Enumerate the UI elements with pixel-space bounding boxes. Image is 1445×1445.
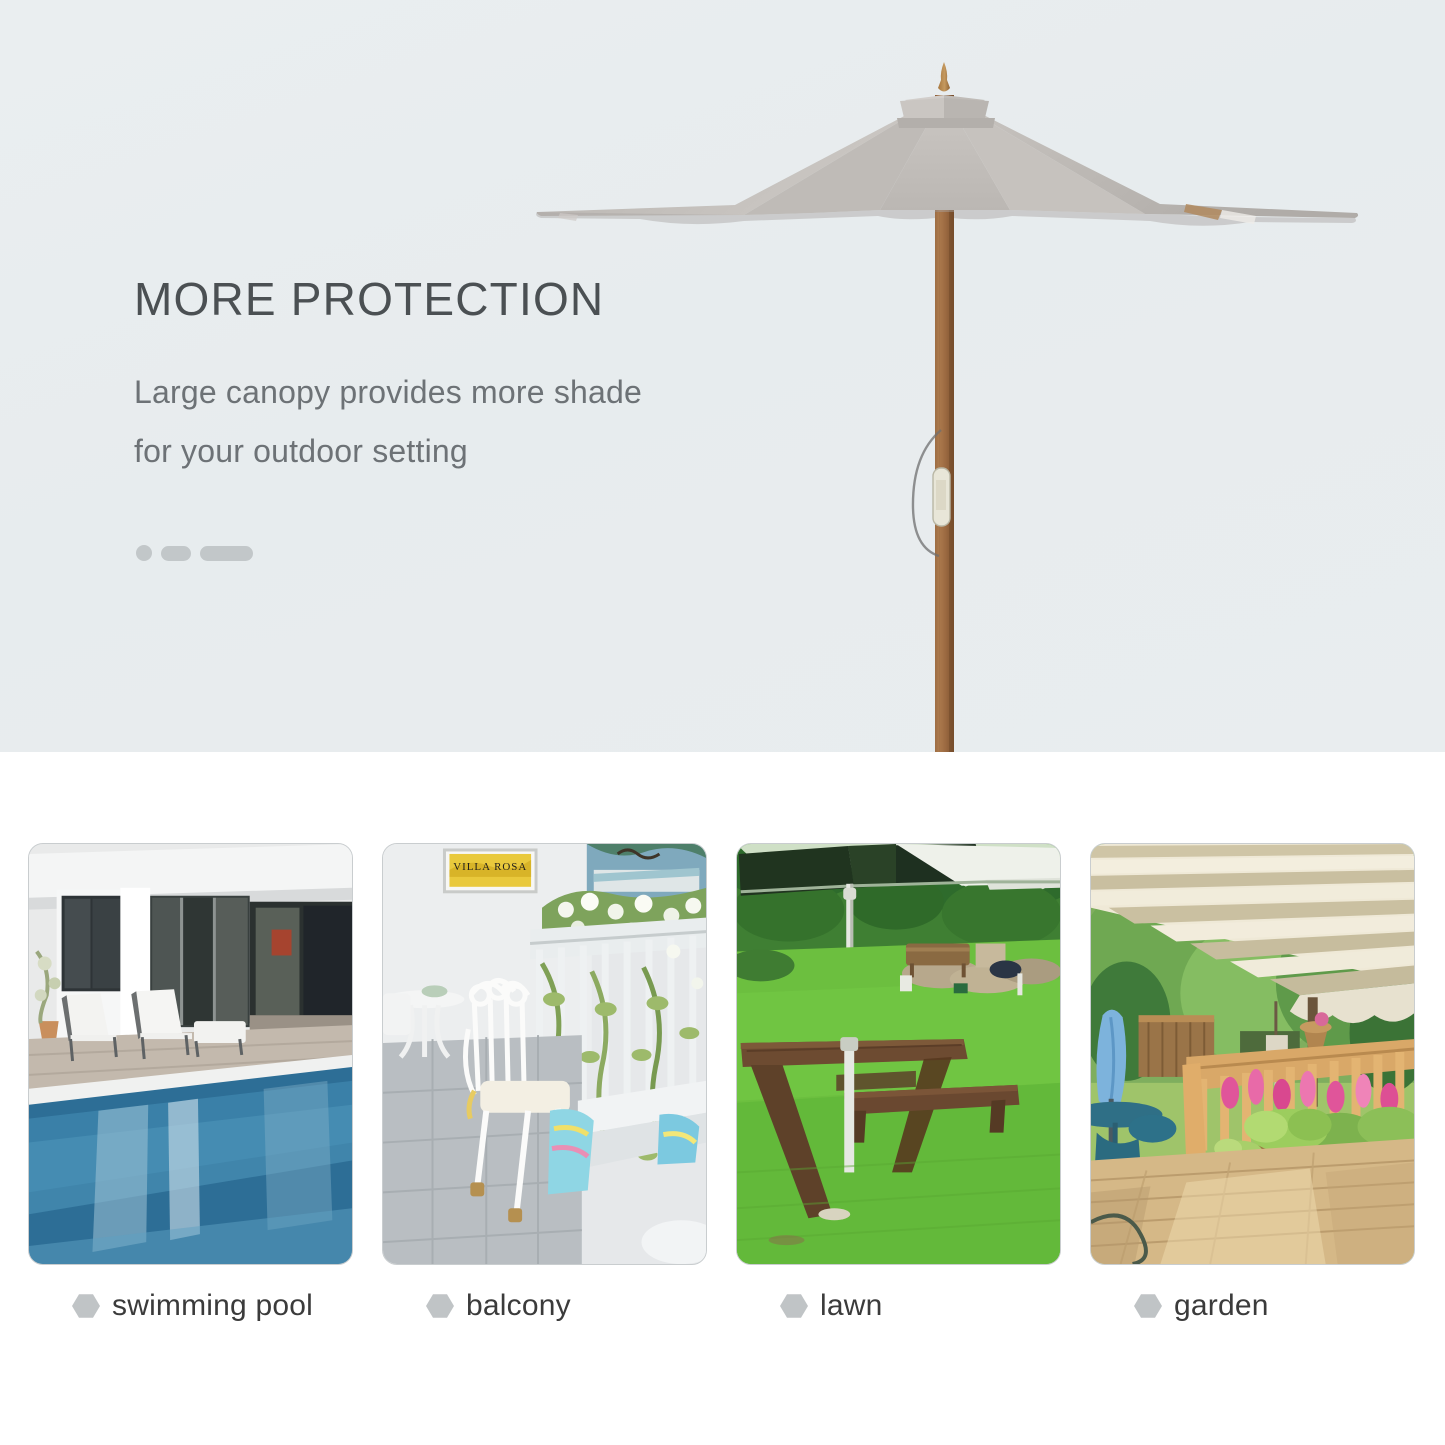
page-title: MORE PROTECTION — [134, 274, 774, 325]
caption-garden: garden — [1090, 1289, 1415, 1323]
scene-gallery: VILLA ROSA — [0, 752, 1445, 1445]
garden-photo — [1091, 844, 1414, 1264]
hero-subtitle: Large canopy provides more shade for you… — [134, 363, 774, 481]
progress-indicator — [136, 545, 253, 561]
caption-label: garden — [1174, 1289, 1269, 1323]
caption-label: balcony — [466, 1289, 571, 1323]
hero-copy: MORE PROTECTION Large canopy provides mo… — [134, 274, 774, 481]
hero-subtitle-line-2: for your outdoor setting — [134, 422, 774, 481]
hexagon-bullet-icon — [1134, 1294, 1162, 1319]
svg-text:VILLA ROSA: VILLA ROSA — [453, 861, 527, 873]
hero-panel: MORE PROTECTION Large canopy provides mo… — [0, 0, 1445, 752]
progress-pip-long — [200, 546, 253, 561]
thumbnail-swimming-pool[interactable] — [28, 843, 353, 1265]
lawn-photo — [737, 844, 1060, 1264]
caption-lawn: lawn — [736, 1289, 1061, 1323]
thumbnail-lawn[interactable] — [736, 843, 1061, 1265]
thumbnail-balcony[interactable]: VILLA ROSA — [382, 843, 707, 1265]
progress-pip-short — [161, 546, 191, 561]
hexagon-bullet-icon — [426, 1294, 454, 1319]
balcony-photo: VILLA ROSA — [383, 844, 706, 1264]
thumbnail-garden[interactable] — [1090, 843, 1415, 1265]
caption-balcony: balcony — [382, 1289, 707, 1323]
swimming-pool-photo — [29, 844, 352, 1264]
caption-swimming-pool: swimming pool — [28, 1289, 353, 1323]
hero-subtitle-line-1: Large canopy provides more shade — [134, 363, 774, 422]
caption-row: swimming pool balcony lawn garden — [28, 1289, 1428, 1323]
hexagon-bullet-icon — [780, 1294, 808, 1319]
caption-label: lawn — [820, 1289, 883, 1323]
hexagon-bullet-icon — [72, 1294, 100, 1319]
progress-pip-dot — [136, 545, 152, 561]
caption-label: swimming pool — [112, 1289, 313, 1323]
thumbnail-row: VILLA ROSA — [28, 843, 1428, 1265]
